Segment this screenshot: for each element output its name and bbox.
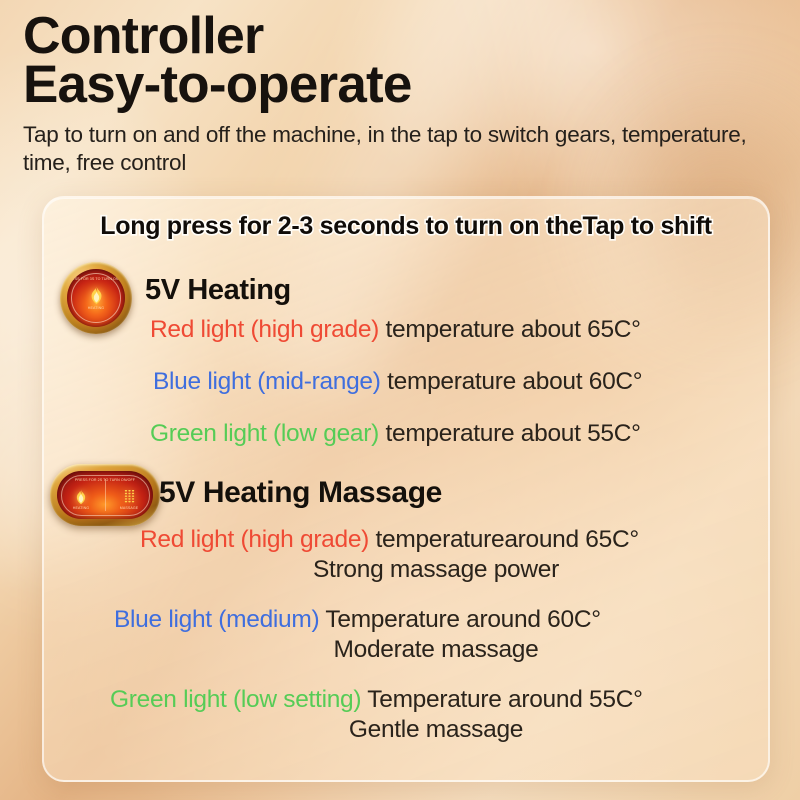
massage-waves-icon	[123, 489, 136, 505]
spec-text: temperature about 60C°	[381, 368, 643, 395]
spec-text: temperaturearound 65C°	[369, 526, 639, 553]
button-glyph-row: HEATING	[57, 489, 153, 510]
spec-label-red: Red light (high grade)	[150, 316, 379, 343]
flame-icon	[88, 286, 105, 305]
spec-label-blue: Blue light (mid-range)	[153, 368, 381, 395]
spec-subline: Gentle massage	[44, 716, 768, 744]
spec-line: Green light (low setting) Temperature ar…	[44, 686, 768, 714]
button-cell-heating: HEATING	[82, 286, 111, 310]
spec-label-green: Green light (low setting)	[110, 686, 361, 713]
button-cell-label: HEATING	[88, 306, 104, 310]
spec-subline: Strong massage power	[44, 556, 768, 584]
button-face: PRESS FOR 2S TO TURN ON/OFF HEATING	[57, 471, 153, 519]
spec-group: Blue light (medium) Temperature around 6…	[44, 606, 768, 664]
flame-icon	[74, 489, 88, 505]
heating-spec-list: Red light (high grade) temperature about…	[150, 316, 642, 472]
spec-text: Temperature around 55C°	[361, 686, 642, 713]
button-instruction-microtext: PRESS FOR 3S TO TURN ON/OFF	[67, 277, 125, 281]
spec-text: Temperature around 60C°	[319, 606, 600, 633]
spec-subline: Moderate massage	[44, 636, 768, 664]
panel-heading: Long press for 2-3 seconds to turn on th…	[44, 212, 768, 241]
headline-block: Controller Easy-to-operate Tap to turn o…	[23, 12, 763, 178]
spec-group: Red light (high grade) temperaturearound…	[44, 526, 768, 584]
mode-title-heating-massage: 5V Heating Massage	[159, 476, 442, 510]
mode-title-heating: 5V Heating	[145, 274, 291, 307]
mode-title-row: PRESS FOR 3S TO TURN ON/OFF HEATING	[44, 256, 768, 322]
button-cell-massage[interactable]: MASSAGE	[105, 489, 153, 510]
spec-group: Green light (low setting) Temperature ar…	[44, 686, 768, 744]
button-cell-label: MASSAGE	[120, 506, 138, 510]
spec-line: Blue light (medium) Temperature around 6…	[44, 606, 768, 634]
spec-label-red: Red light (high grade)	[140, 526, 369, 553]
spec-label-green: Green light (low gear)	[150, 420, 379, 447]
infographic-canvas: Controller Easy-to-operate Tap to turn o…	[0, 0, 800, 800]
mode-block-heating: PRESS FOR 3S TO TURN ON/OFF HEATING	[44, 256, 768, 322]
massage-spec-list: Red light (high grade) temperaturearound…	[44, 526, 768, 766]
page-title-line-2: Easy-to-operate	[23, 60, 763, 109]
spec-line: Blue light (mid-range) temperature about…	[153, 368, 642, 396]
button-glyph-row: HEATING	[67, 286, 125, 310]
heating-power-button[interactable]: PRESS FOR 3S TO TURN ON/OFF HEATING	[60, 262, 132, 334]
spec-line: Red light (high grade) temperaturearound…	[44, 526, 768, 554]
heating-massage-power-button[interactable]: PRESS FOR 2S TO TURN ON/OFF HEATING	[50, 464, 160, 526]
button-face: PRESS FOR 3S TO TURN ON/OFF HEATING	[67, 269, 125, 327]
button-cell-heating[interactable]: HEATING	[57, 489, 105, 510]
spec-line: Green light (low gear) temperature about…	[150, 420, 642, 448]
instructions-panel: Long press for 2-3 seconds to turn on th…	[42, 196, 770, 782]
spec-label-blue: Blue light (medium)	[114, 606, 319, 633]
spec-text: temperature about 55C°	[379, 420, 641, 447]
button-cell-label: HEATING	[73, 506, 89, 510]
spec-text: temperature about 65C°	[379, 316, 641, 343]
mode-title-row: PRESS FOR 2S TO TURN ON/OFF HEATING	[44, 460, 768, 526]
page-title-line-1: Controller	[23, 12, 763, 60]
spec-line: Red light (high grade) temperature about…	[150, 316, 642, 344]
mode-block-heating-massage: PRESS FOR 2S TO TURN ON/OFF HEATING	[44, 460, 768, 526]
button-instruction-microtext: PRESS FOR 2S TO TURN ON/OFF	[57, 478, 153, 482]
page-subtitle: Tap to turn on and off the machine, in t…	[23, 121, 763, 179]
